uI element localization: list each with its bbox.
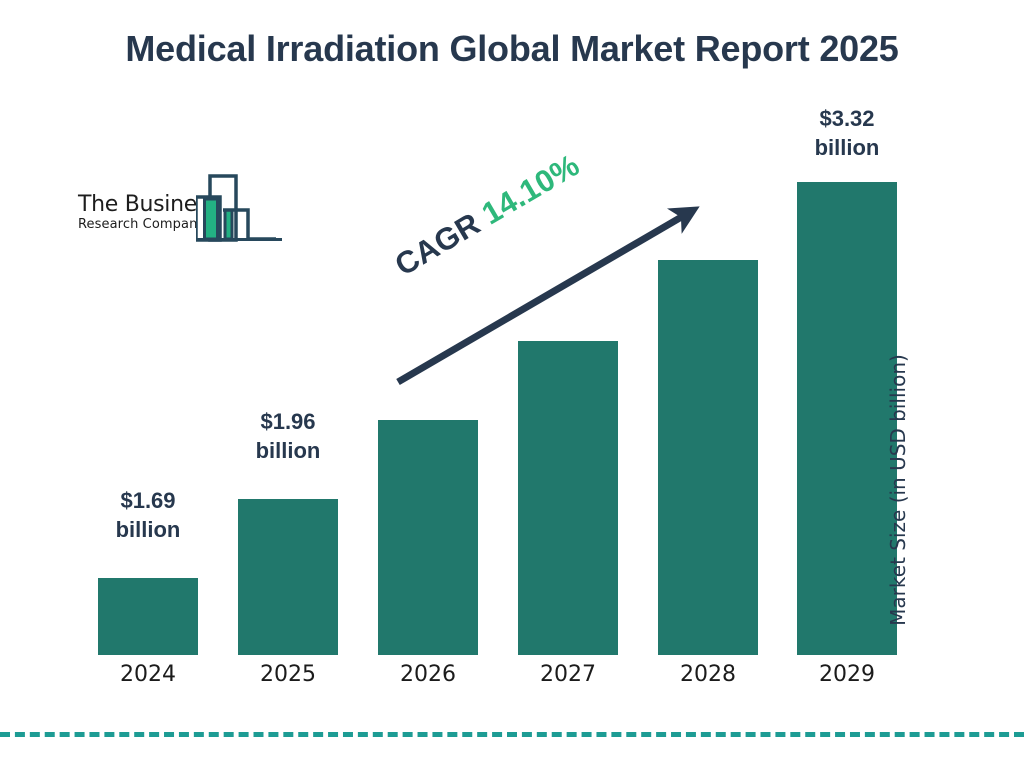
x-tick-2026: 2026 [358, 662, 498, 687]
bar-2029 [797, 182, 897, 655]
y-axis-title: Market Size (in USD billion) [886, 330, 910, 650]
footer-divider [0, 732, 1024, 737]
bar-value-label-2025-line1: $1.96 [218, 407, 358, 436]
bar-2024 [98, 578, 198, 655]
bar-2025 [238, 499, 338, 655]
bar-value-label-2029-line2: billion [777, 133, 917, 162]
growth-arrow-icon [380, 190, 720, 400]
bar-value-label-2024-line2: billion [78, 515, 218, 544]
bar-chart-plot: $1.69 billion $1.96 billion $3.32 billio… [0, 0, 1024, 768]
x-tick-2029: 2029 [777, 662, 917, 687]
bar-value-label-2025: $1.96 billion [218, 407, 358, 465]
chart-page: Medical Irradiation Global Market Report… [0, 0, 1024, 768]
x-tick-2024: 2024 [78, 662, 218, 687]
bar-value-label-2029-line1: $3.32 [777, 104, 917, 133]
bar-value-label-2024: $1.69 billion [78, 486, 218, 544]
x-tick-2025: 2025 [218, 662, 358, 687]
x-tick-2027: 2027 [498, 662, 638, 687]
x-tick-2028: 2028 [638, 662, 778, 687]
bar-value-label-2025-line2: billion [218, 436, 358, 465]
bar-value-label-2029: $3.32 billion [777, 104, 917, 162]
bar-value-label-2024-line1: $1.69 [78, 486, 218, 515]
bar-2026 [378, 420, 478, 655]
